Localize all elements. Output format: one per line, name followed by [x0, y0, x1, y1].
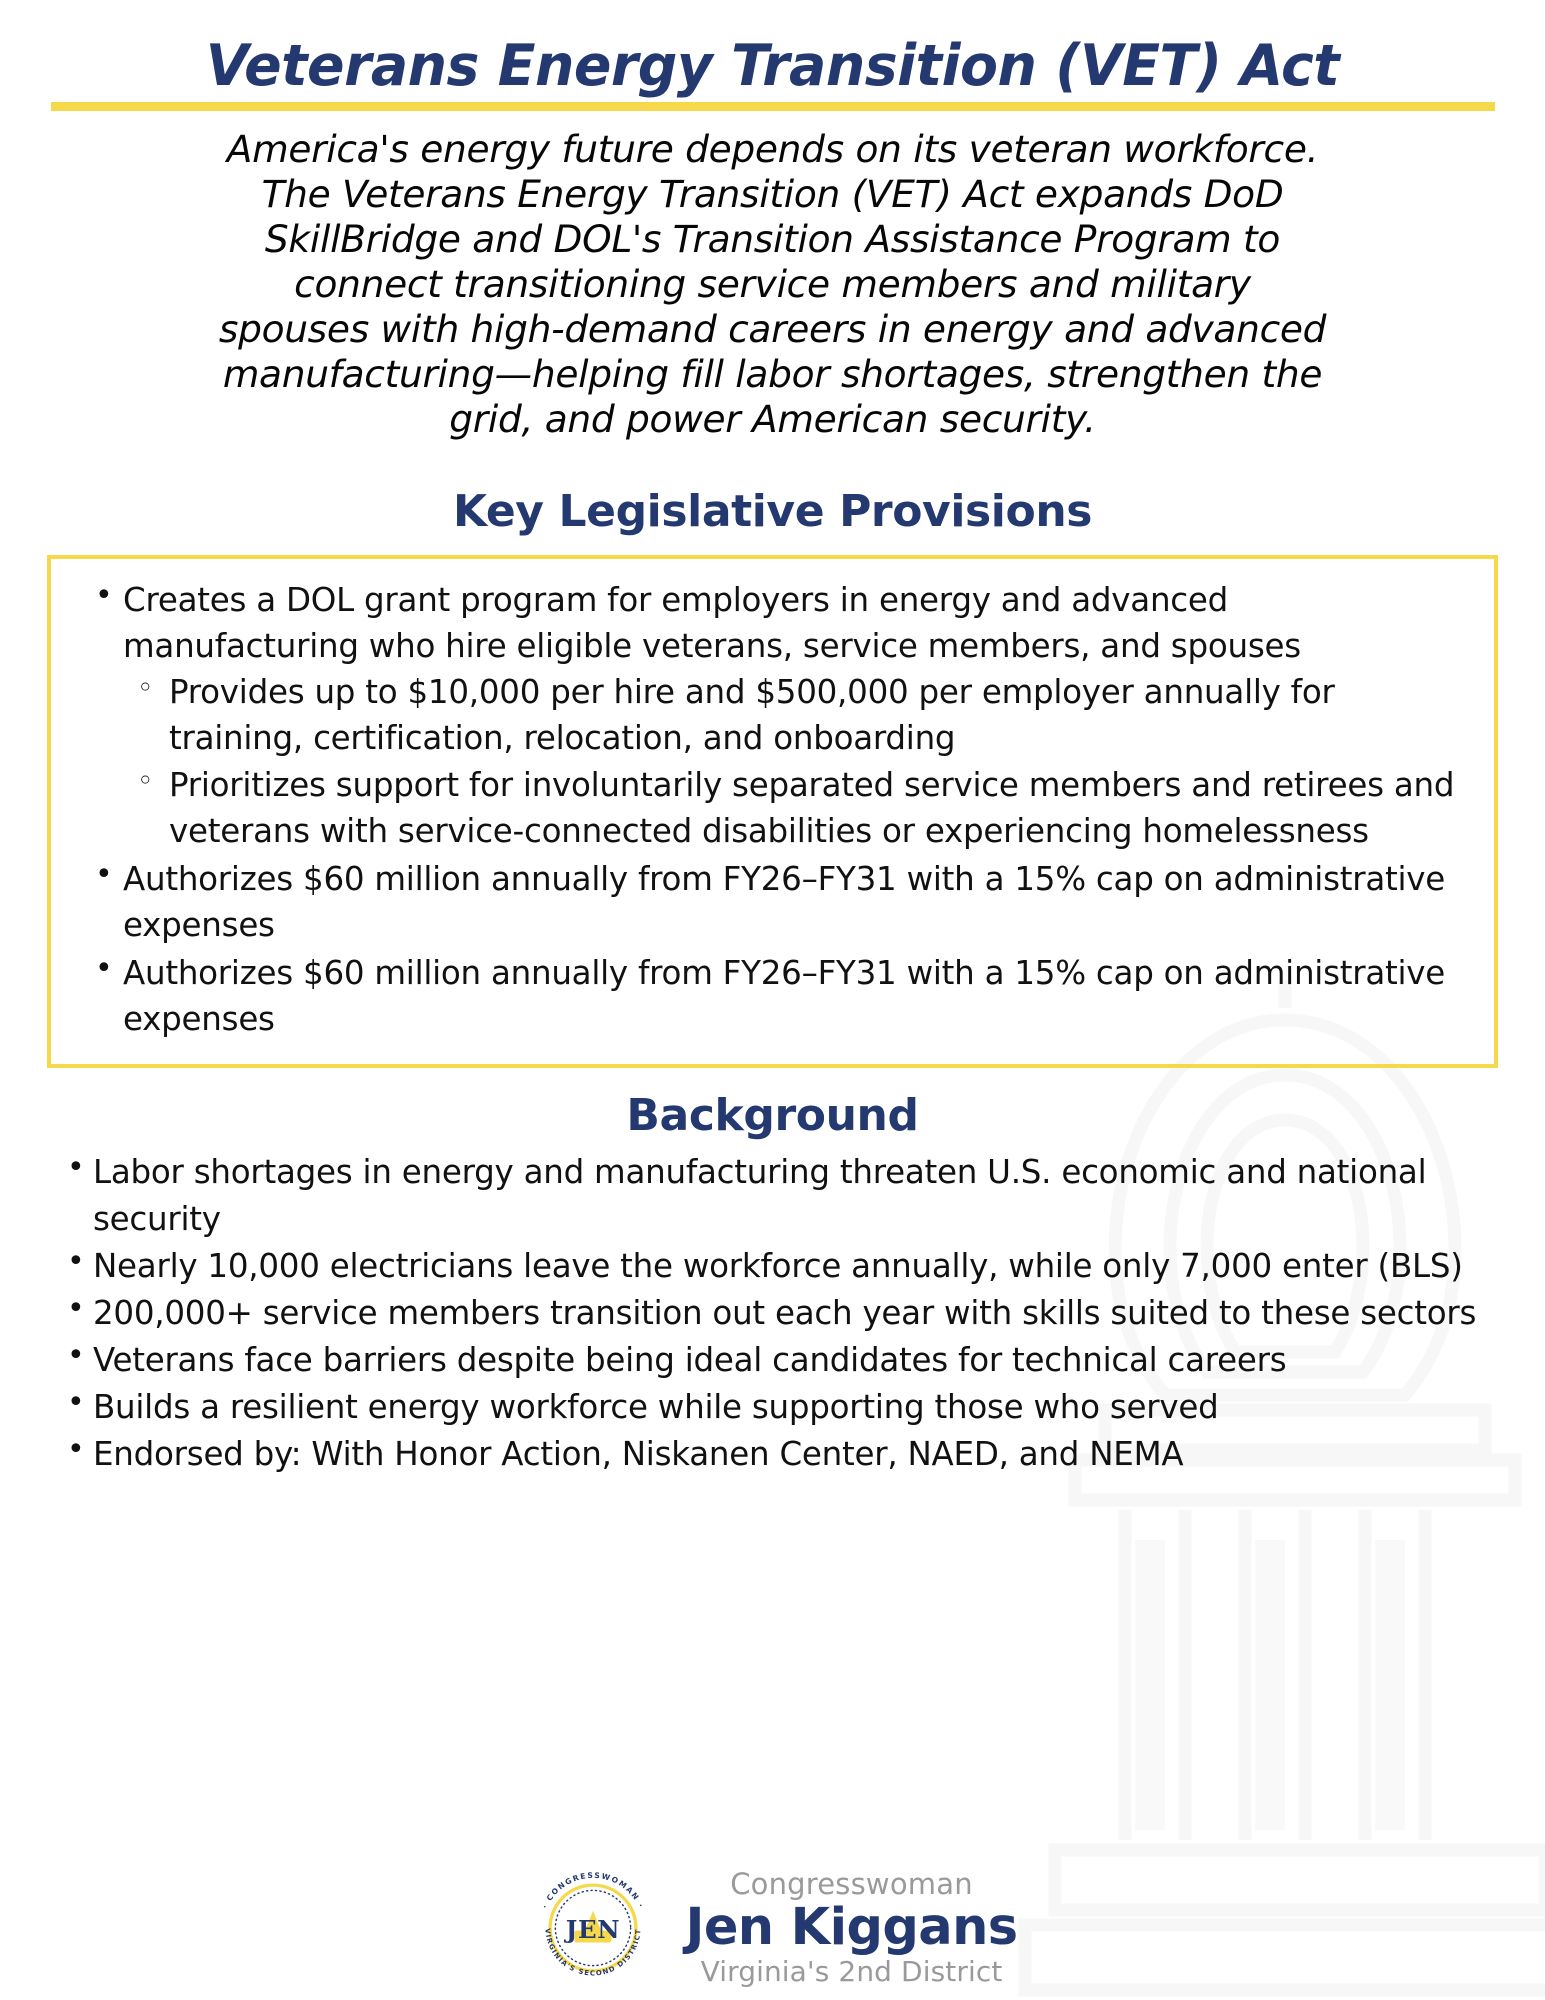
- sub-list-item: Prioritizes support for involuntarily se…: [123, 762, 1468, 854]
- sub-list-item: Provides up to $10,000 per hire and $500…: [123, 669, 1468, 761]
- list-item: Labor shortages in energy and manufactur…: [47, 1149, 1498, 1241]
- list-item: 200,000+ service members transition out …: [47, 1290, 1498, 1336]
- title-divider: [51, 102, 1495, 111]
- signature-prefix: Congresswoman: [730, 1870, 973, 1899]
- provisions-sublist: Provides up to $10,000 per hire and $500…: [123, 669, 1468, 854]
- signature-block: Congresswoman Jen Kiggans Virginia's 2nd…: [685, 1870, 1017, 1985]
- jen-kiggans-seal-icon: JEN · CONGRESSWOMAN · · VIRGINIA'S SECON…: [527, 1862, 659, 1994]
- list-item: Nearly 10,000 electricians leave the wor…: [47, 1243, 1498, 1289]
- background-heading: Background: [0, 1090, 1545, 1141]
- list-item: Endorsed by: With Honor Action, Niskanen…: [47, 1431, 1498, 1477]
- list-item: Authorizes $60 million annually from FY2…: [77, 950, 1468, 1042]
- list-item: Creates a DOL grant program for employer…: [77, 577, 1468, 854]
- signature-district: Virginia's 2nd District: [701, 1958, 1003, 1986]
- provisions-heading: Key Legislative Provisions: [0, 486, 1545, 537]
- provisions-box: Creates a DOL grant program for employer…: [47, 555, 1498, 1068]
- header: Veterans Energy Transition (VET) Act: [0, 0, 1545, 111]
- list-item: Veterans face barriers despite being ide…: [47, 1337, 1498, 1383]
- subtitle-paragraph: America's energy future depends on its v…: [215, 127, 1330, 442]
- background-list: Labor shortages in energy and manufactur…: [47, 1149, 1498, 1477]
- list-item: Builds a resilient energy workforce whil…: [47, 1384, 1498, 1430]
- list-item: Authorizes $60 million annually from FY2…: [77, 856, 1468, 948]
- signature-name: Jen Kiggans: [685, 1901, 1017, 1954]
- list-item-text: Creates a DOL grant program for employer…: [123, 581, 1301, 665]
- footer: JEN · CONGRESSWOMAN · · VIRGINIA'S SECON…: [0, 1862, 1545, 1994]
- svg-text:JEN: JEN: [564, 1915, 620, 1944]
- provisions-list: Creates a DOL grant program for employer…: [77, 577, 1468, 1042]
- page-title: Veterans Energy Transition (VET) Act: [23, 38, 1522, 95]
- flyer-page: Veterans Energy Transition (VET) Act Ame…: [0, 0, 1545, 2000]
